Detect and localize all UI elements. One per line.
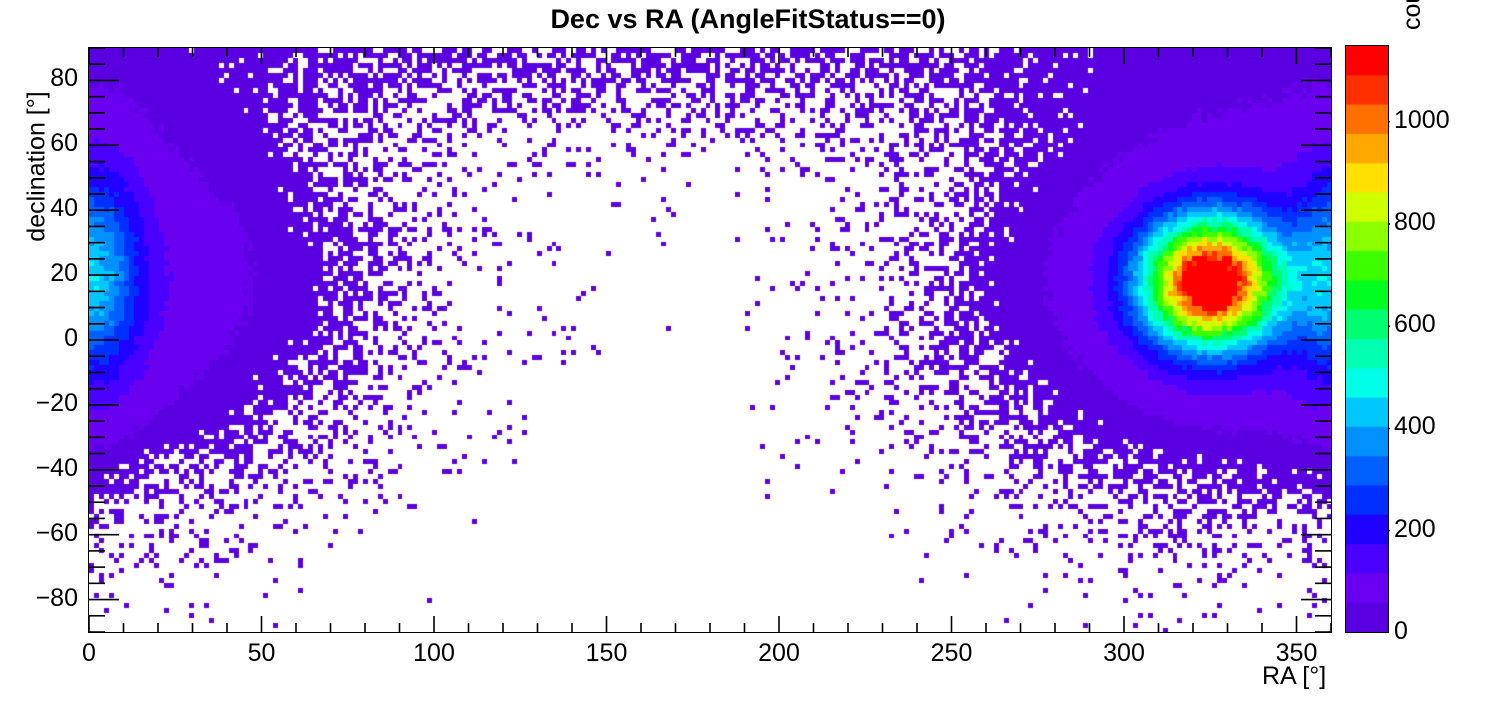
canvas-root: Dec vs RA (AngleFitStatus==0) declinatio… xyxy=(0,0,1496,722)
x-tick-label: 150 xyxy=(586,639,628,668)
x-tick-label: 50 xyxy=(248,639,276,668)
x-tick-label: 100 xyxy=(413,639,455,668)
z-tick-label: 0 xyxy=(1394,617,1408,646)
y-tick-label: 40 xyxy=(50,194,78,223)
plot-title: Dec vs RA (AngleFitStatus==0) xyxy=(0,4,1496,35)
color-bar-gradient xyxy=(1346,46,1388,632)
z-tick-label: 1000 xyxy=(1394,106,1450,135)
y-tick-label: −40 xyxy=(36,454,78,483)
x-tick-label: 350 xyxy=(1276,639,1318,668)
histogram-2d xyxy=(89,48,1331,632)
y-tick-label: 20 xyxy=(50,259,78,288)
plot-frame xyxy=(88,47,1332,633)
x-tick-label: 250 xyxy=(931,639,973,668)
z-tick-label: 600 xyxy=(1394,310,1436,339)
y-axis-title: declination [°] xyxy=(23,67,52,267)
z-axis-title: count xyxy=(1398,0,1427,30)
x-tick-label: 0 xyxy=(82,639,96,668)
z-tick-label: 800 xyxy=(1394,208,1436,237)
y-tick-label: 80 xyxy=(50,64,78,93)
y-tick-label: 60 xyxy=(50,129,78,158)
y-tick-label: 0 xyxy=(64,324,78,353)
y-tick-label: −80 xyxy=(36,584,78,613)
z-tick-label: 200 xyxy=(1394,515,1436,544)
x-tick-label: 300 xyxy=(1103,639,1145,668)
y-tick-label: −20 xyxy=(36,389,78,418)
color-bar[interactable] xyxy=(1345,45,1389,633)
y-tick-label: −60 xyxy=(36,519,78,548)
x-tick-label: 200 xyxy=(758,639,800,668)
z-tick-label: 400 xyxy=(1394,412,1436,441)
